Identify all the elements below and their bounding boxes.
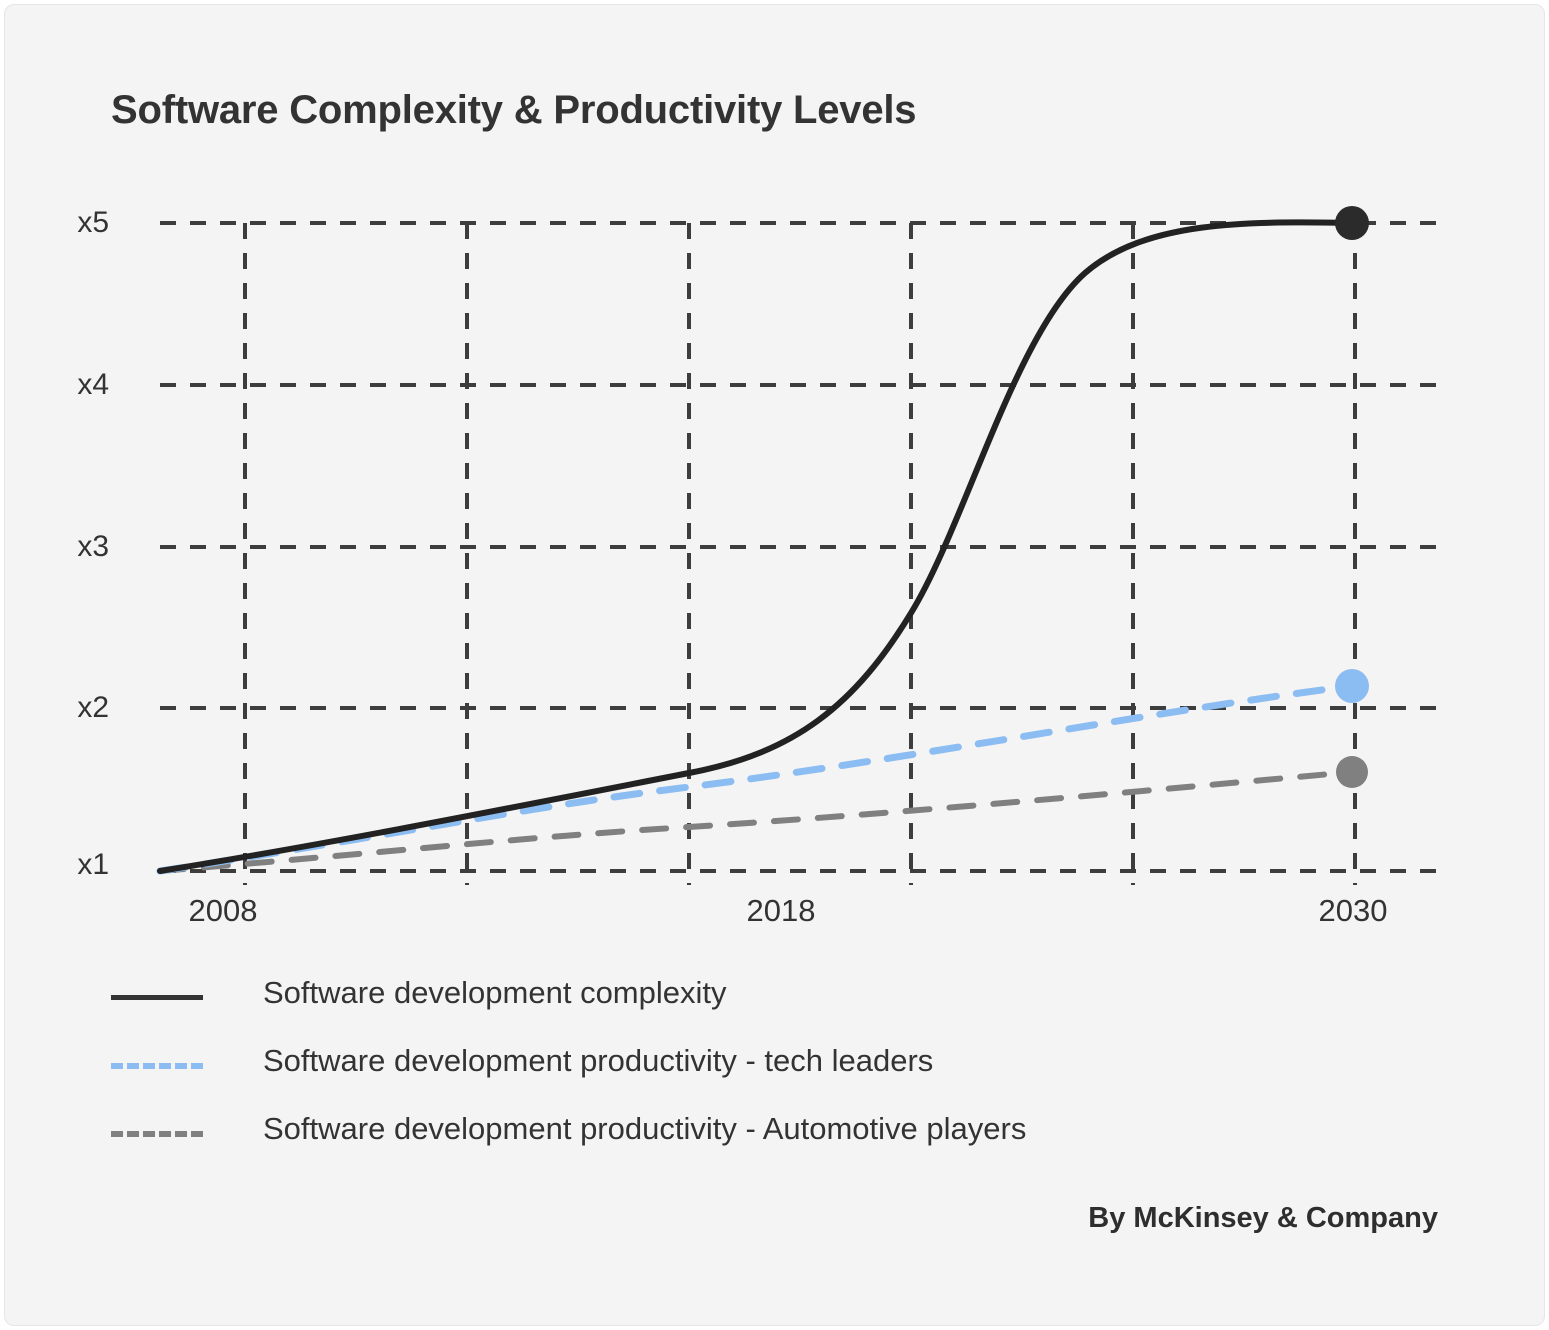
y-axis-tick-x4: x4 [49,368,109,402]
chart-legend: Software development complexity Software… [111,973,1411,1177]
series-line-complexity [160,222,1352,871]
legend-item-tech-leaders[interactable]: Software development productivity - tech… [111,1041,1411,1109]
series-line-automotive [160,772,1352,871]
legend-label-automotive: Software development productivity - Auto… [263,1111,1026,1147]
endpoint-marker-tech-leaders [1335,669,1369,703]
series-line-tech-leaders [160,686,1352,871]
attribution-text: By McKinsey & Company [1088,1202,1438,1235]
x-axis-tick-2008: 2008 [143,893,303,929]
y-axis-tick-x2: x2 [49,691,109,725]
legend-swatch-complexity [111,995,203,1005]
y-axis-tick-x5: x5 [49,206,109,240]
legend-label-complexity: Software development complexity [263,975,727,1011]
legend-swatch-tech-leaders [111,1063,203,1074]
endpoint-marker-complexity [1335,206,1369,240]
chart-card: Software Complexity & Productivity Level… [4,4,1545,1326]
legend-item-automotive[interactable]: Software development productivity - Auto… [111,1109,1411,1177]
x-axis-tick-2018: 2018 [701,893,861,929]
y-axis-tick-x1: x1 [49,848,109,882]
legend-label-tech-leaders: Software development productivity - tech… [263,1043,933,1079]
legend-item-complexity[interactable]: Software development complexity [111,973,1411,1041]
endpoint-marker-automotive [1336,756,1368,788]
y-axis-tick-x3: x3 [49,530,109,564]
legend-swatch-automotive [111,1131,203,1142]
chart-plot-area [5,5,1546,965]
x-axis-tick-2030: 2030 [1273,893,1433,929]
